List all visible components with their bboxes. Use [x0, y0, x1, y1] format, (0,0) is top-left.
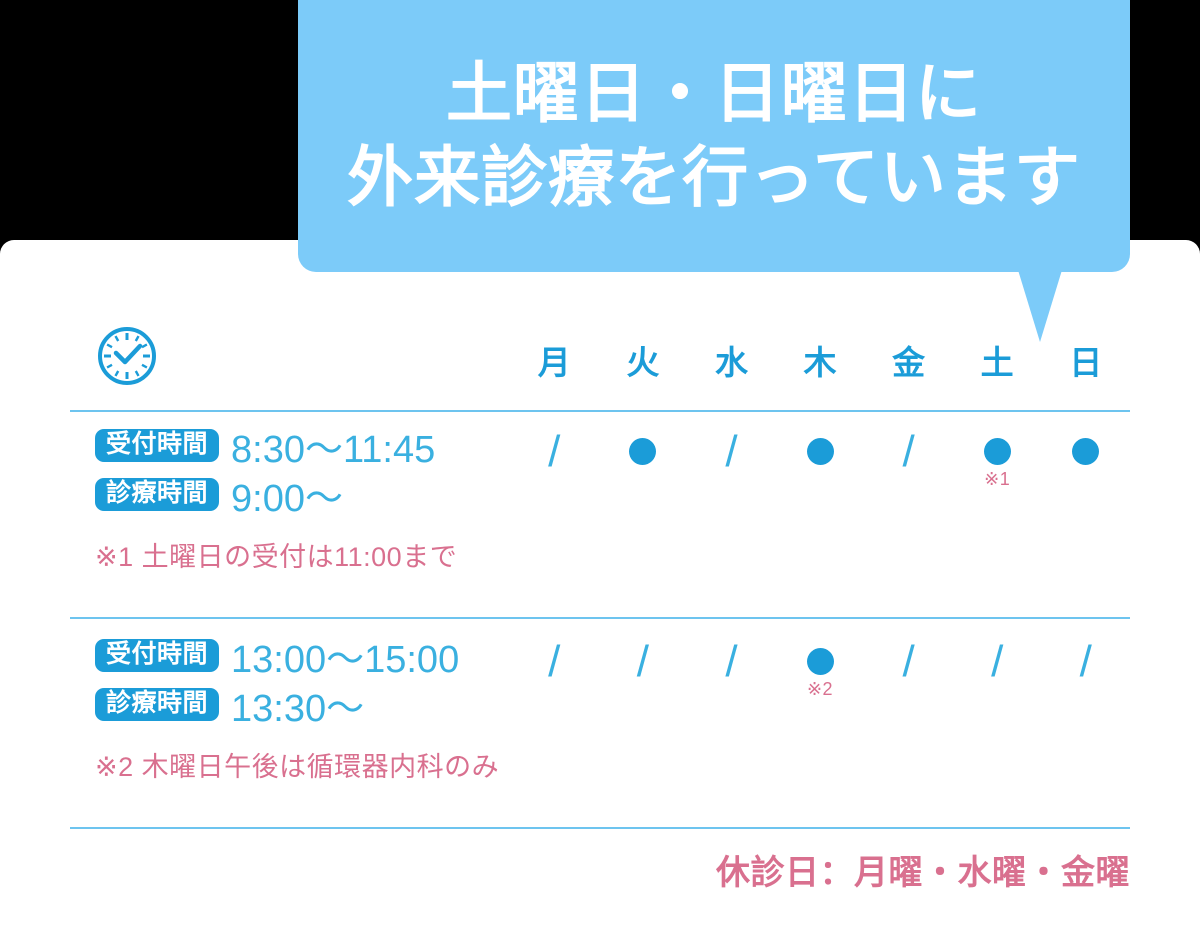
consult-time-line-afternoon: 診療時間 13:30〜: [95, 683, 525, 726]
closed-slash: /: [725, 438, 737, 465]
cell-morning-mon: /: [510, 424, 599, 534]
cell-morning-wed: /: [687, 424, 776, 534]
consult-time-line-morning: 診療時間 9:00〜: [95, 473, 525, 516]
reception-value-afternoon: 13:00〜15:00: [231, 628, 459, 683]
cell-afternoon-mon: /: [510, 634, 599, 744]
schedule-row-morning: 受付時間 8:30〜11:45 診療時間 9:00〜 ※1 土曜日の受付は11:…: [70, 424, 1130, 614]
day-header-sun: 日: [1041, 336, 1130, 384]
open-dot: [1072, 438, 1099, 465]
callout-line-2: 外来診療を行っています: [347, 136, 1081, 220]
table-header-row: 月 火 水 木 金 土 日: [70, 320, 1130, 400]
divider-under-header: [70, 410, 1130, 412]
row-note-afternoon: ※2 木曜日午後は循環器内科のみ: [95, 745, 525, 784]
open-dot: [984, 438, 1011, 465]
open-dot: [807, 438, 834, 465]
schedule-table: 月 火 水 木 金 土 日 受付時間 8:30〜11:45 診療時間 9:00〜: [0, 240, 1200, 950]
day-header-mon: 月: [510, 336, 599, 384]
consult-badge-afternoon: 診療時間: [95, 688, 219, 721]
divider-above-footer: [70, 827, 1130, 829]
cell-afternoon-sat: /: [953, 634, 1042, 744]
closed-slash: /: [548, 438, 560, 465]
marker-cells-morning: / / /: [510, 424, 1130, 534]
reception-badge-morning: 受付時間: [95, 429, 219, 462]
callout-tail: [1018, 270, 1062, 342]
cell-afternoon-sun: /: [1041, 634, 1130, 744]
callout-line-1: 土曜日・日曜日に: [446, 52, 982, 136]
divider-between-rows: [70, 617, 1130, 619]
cell-morning-tue: [599, 424, 688, 534]
cell-morning-sat: ※1: [953, 424, 1042, 534]
consult-value-afternoon: 13:30〜: [231, 677, 364, 732]
day-header-tue: 火: [599, 336, 688, 384]
consult-badge-morning: 診療時間: [95, 478, 219, 511]
open-dot: [629, 438, 656, 465]
cell-morning-sun: [1041, 424, 1130, 534]
cell-morning-thu: [776, 424, 865, 534]
cell-afternoon-fri: /: [864, 634, 953, 744]
closed-slash: /: [902, 438, 914, 465]
closed-slash: /: [902, 648, 914, 675]
reception-value-morning: 8:30〜11:45: [231, 418, 435, 473]
clock-icon: [95, 324, 159, 388]
day-header-fri: 金: [864, 336, 953, 384]
callout-bubble: 土曜日・日曜日に 外来診療を行っています: [298, 0, 1130, 272]
open-dot: [807, 648, 834, 675]
day-header-thu: 木: [776, 336, 865, 384]
cell-note-ref1: ※1: [984, 470, 1010, 488]
cell-note-ref2: ※2: [807, 680, 833, 698]
closed-days-text: 休診日：月曜・水曜・金曜: [716, 845, 1130, 894]
cell-afternoon-tue: /: [599, 634, 688, 744]
cell-afternoon-thu: ※2: [776, 634, 865, 744]
row-note-morning: ※1 土曜日の受付は11:00まで: [95, 535, 525, 574]
row-info-morning: 受付時間 8:30〜11:45 診療時間 9:00〜 ※1 土曜日の受付は11:…: [95, 424, 525, 574]
clinic-hours-panel: 月 火 水 木 金 土 日 受付時間 8:30〜11:45 診療時間 9:00〜: [0, 0, 1200, 950]
row-info-afternoon: 受付時間 13:00〜15:00 診療時間 13:30〜 ※2 木曜日午後は循環…: [95, 634, 525, 784]
day-header-wed: 水: [687, 336, 776, 384]
reception-time-line-morning: 受付時間 8:30〜11:45: [95, 424, 525, 467]
closed-slash: /: [548, 648, 560, 675]
schedule-row-afternoon: 受付時間 13:00〜15:00 診療時間 13:30〜 ※2 木曜日午後は循環…: [70, 634, 1130, 824]
reception-badge-afternoon: 受付時間: [95, 639, 219, 672]
cell-morning-fri: /: [864, 424, 953, 534]
day-header-sat: 土: [953, 336, 1042, 384]
reception-time-line-afternoon: 受付時間 13:00〜15:00: [95, 634, 525, 677]
closed-slash: /: [637, 648, 649, 675]
closed-slash: /: [725, 648, 737, 675]
consult-value-morning: 9:00〜: [231, 467, 343, 522]
closed-slash: /: [1080, 648, 1092, 675]
marker-cells-afternoon: / / / ※2 /: [510, 634, 1130, 744]
closed-slash: /: [991, 648, 1003, 675]
cell-afternoon-wed: /: [687, 634, 776, 744]
